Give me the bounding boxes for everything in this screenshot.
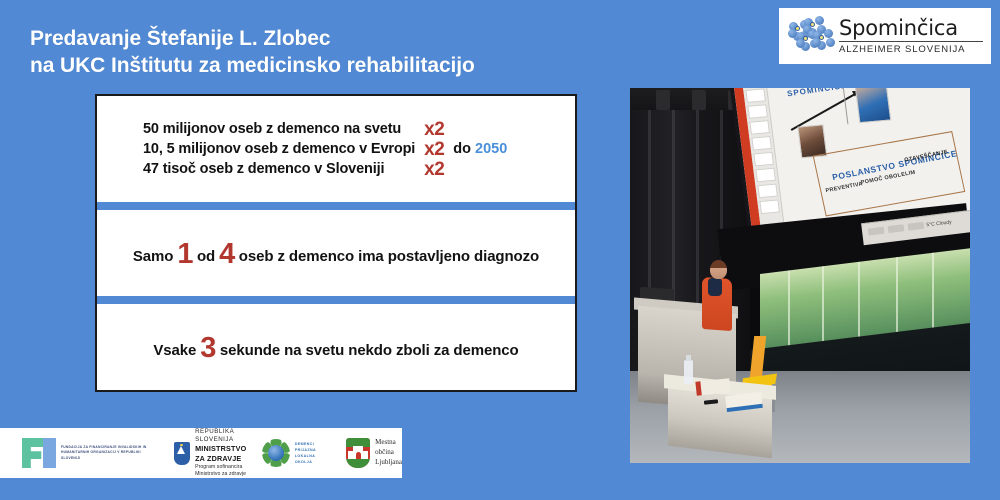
- diagnosis-sentence: Samo 1 od 4 oseb z demenco ima postavlje…: [133, 241, 539, 265]
- title-line-1: Predavanje Štefanije L. Zlobec: [30, 26, 475, 53]
- sentence-part: Vsake: [153, 342, 196, 359]
- photo-presenter-head: [710, 260, 727, 279]
- sponsor-mestna-obcina-ljubljana: Mestna občina Ljubljana: [346, 438, 402, 468]
- sponsor-mol-text: Mestna občina Ljubljana: [375, 438, 402, 467]
- stat-multiplier: x2: [424, 120, 444, 139]
- stat-label: 47 tisoč oseb z demenco v Sloveniji: [143, 161, 415, 177]
- sponsor-fiho-text: FUNDACIJA ZA FINANCIRANJE INVALIDSKIH IN…: [61, 445, 160, 460]
- stat-tail: do 2050: [453, 141, 507, 157]
- page-title: Predavanje Štefanije L. Zlobec na UKC In…: [30, 26, 475, 80]
- ministry-country: REPUBLIKA SLOVENIJA: [195, 428, 248, 444]
- highlight-number: 3: [200, 337, 216, 360]
- photo-presenter-scarf: [708, 278, 722, 296]
- stat-tail-year: 2050: [475, 141, 507, 157]
- taskbar-weather: 5°C Cloudy: [926, 219, 952, 228]
- stat-tail-word: do: [453, 141, 471, 157]
- highlight-number: 4: [219, 243, 235, 266]
- brand-text-block: Spominčica ALZHEIMER SLOVENIJA: [839, 18, 983, 55]
- stat-label: 10, 5 milijonov oseb z demenco v Evropi: [143, 141, 415, 157]
- slide-arrow-icon: [791, 91, 859, 130]
- sponsor-ministry-text: REPUBLIKA SLOVENIJA MINISTRSTVO ZA ZDRAV…: [195, 428, 248, 478]
- sentence-part: Samo: [133, 248, 173, 265]
- slovenia-coat-of-arms-icon: [174, 442, 190, 465]
- incidence-sentence: Vsake 3 sekunde na svetu nekdo zboli za …: [153, 335, 518, 359]
- stat-multiplier: x2: [424, 140, 444, 159]
- facts-row-statistics: 50 milijonov oseb z demenco na svetu x2 …: [97, 96, 575, 202]
- flower-ring-icon: [262, 439, 290, 467]
- slide-vertical-rule: [843, 88, 849, 124]
- facts-panel: 50 milijonov oseb z demenco na svetu x2 …: [95, 94, 577, 392]
- forget-me-not-flowers-icon: [789, 16, 835, 56]
- slide-portrait-presenter: [854, 88, 891, 123]
- statistics-grid: 50 milijonov oseb z demenco na svetu x2 …: [143, 120, 507, 179]
- slide-canvas: Predavanje Štefanije L. Zlobec na UKC In…: [0, 0, 1000, 500]
- slide-title-fragment: SPOMINČICA SL: [786, 88, 863, 98]
- mol-line-1: Mestna občina: [375, 438, 402, 458]
- ministry-name: MINISTRSTVO ZA ZDRAVJE: [195, 444, 248, 463]
- fiho-block-icon: [22, 438, 56, 468]
- photo-hand-sanitizer: [684, 360, 693, 384]
- panel-divider-1: [97, 202, 575, 210]
- brand-divider: [839, 41, 983, 42]
- sentence-part: sekunde na svetu nekdo zboli za demenco: [220, 342, 519, 359]
- sponsor-demenci-prijazna-lokalna-okolja: DEMENCI PRIJAZNA LOKALNA OKOLJA: [262, 439, 332, 467]
- mol-line-2: Ljubljana: [375, 458, 402, 468]
- stat-label: 50 milijonov oseb z demenco na svetu: [143, 121, 415, 137]
- sponsor-fiho: FUNDACIJA ZA FINANCIRANJE INVALIDSKIH IN…: [22, 438, 160, 468]
- sponsor-ministrstvo-za-zdravje: REPUBLIKA SLOVENIJA MINISTRSTVO ZA ZDRAV…: [174, 428, 248, 478]
- title-line-2: na UKC Inštitutu za medicinsko rehabilit…: [30, 53, 475, 80]
- ministry-note: Program sofinancira Ministrstvo za zdrav…: [195, 464, 248, 478]
- brand-subtitle: ALZHEIMER SLOVENIJA: [839, 44, 983, 55]
- sponsor-logo-strip: FUNDACIJA ZA FINANCIRANJE INVALIDSKIH IN…: [0, 428, 402, 478]
- brand-name: Spominčica: [839, 18, 983, 39]
- highlight-number: 1: [177, 243, 193, 266]
- facts-row-incidence: Vsake 3 sekunde na svetu nekdo zboli za …: [97, 304, 575, 390]
- sentence-part: od: [197, 248, 215, 265]
- sentence-part: oseb z demenco ima postavljeno diagnozo: [239, 248, 539, 265]
- sponsor-dplo-text: DEMENCI PRIJAZNA LOKALNA OKOLJA: [295, 441, 332, 465]
- panel-divider-2: [97, 296, 575, 304]
- stat-multiplier: x2: [424, 160, 444, 179]
- ljubljana-castle-crest-icon: [346, 438, 370, 468]
- facts-row-diagnosis: Samo 1 od 4 oseb z demenco ima postavlje…: [97, 210, 575, 296]
- spomincica-logo: Spominčica ALZHEIMER SLOVENIJA: [779, 8, 991, 64]
- lecture-hall-photo: SPOMINČICA SL POSLANSTVO SPOMINČICE PREV…: [630, 88, 970, 463]
